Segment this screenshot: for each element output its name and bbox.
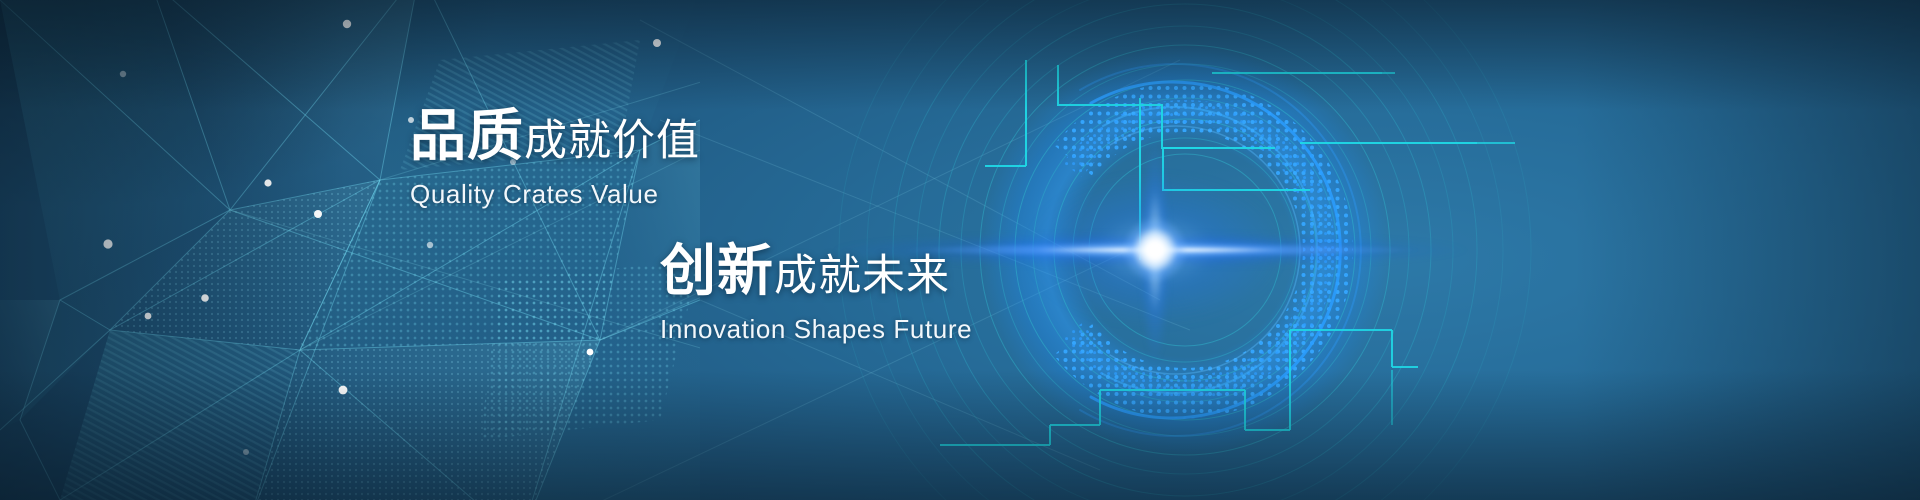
slogan-quality-english: Quality Crates Value bbox=[410, 179, 700, 210]
slogan-innovation-chinese-light: 成就未来 bbox=[774, 252, 950, 300]
hero-banner: 品质成就价值 Quality Crates Value 创新成就未来 Innov… bbox=[0, 0, 1920, 500]
slogan-quality-chinese-light: 成就价值 bbox=[524, 117, 700, 165]
slogan-innovation-chinese-strong: 创新 bbox=[660, 239, 774, 302]
slogan-quality: 品质成就价值 Quality Crates Value bbox=[410, 108, 700, 210]
slogan-innovation-chinese: 创新成就未来 bbox=[660, 243, 972, 299]
slogan-quality-chinese: 品质成就价值 bbox=[410, 108, 700, 164]
slogan-quality-chinese-strong: 品质 bbox=[410, 104, 524, 167]
slogan-innovation: 创新成就未来 Innovation Shapes Future bbox=[660, 243, 972, 345]
slogan-innovation-english: Innovation Shapes Future bbox=[660, 314, 972, 345]
